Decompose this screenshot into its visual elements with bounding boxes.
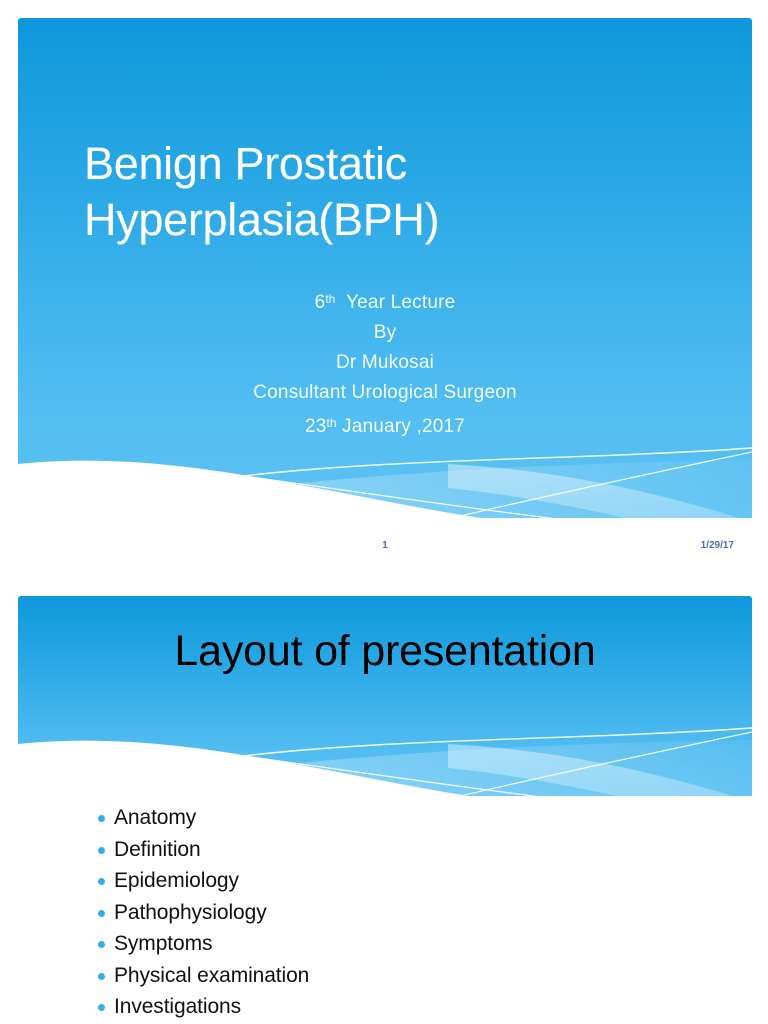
subtitle-line-by: By (18, 318, 752, 348)
slide-1-footer: 1 1/29/17 (18, 540, 752, 558)
slide-1-title: Benign Prostatic Hyperplasia(BPH) (84, 136, 704, 248)
lecture-year-number: 6 (315, 292, 326, 313)
list-item-label: Symptoms (114, 932, 212, 955)
bullet-dot-icon (98, 910, 105, 917)
subtitle-line-lecture: 6th Year Lecture (18, 284, 752, 318)
bullet-dot-icon (98, 1004, 105, 1011)
subtitle-line-presenter: Dr Mukosai (18, 348, 752, 378)
list-item: Investigations (78, 991, 718, 1023)
bullet-dot-icon (98, 973, 105, 980)
slide-2-title: Layout of presentation (18, 624, 752, 678)
list-item-label: Definition (114, 838, 201, 861)
slide-2[interactable]: Layout of presentation Anatomy Definitio… (18, 596, 752, 1024)
slide-date: 1/29/17 (701, 540, 734, 551)
bullet-dot-icon (98, 847, 105, 854)
list-item: Epidemiology (78, 865, 718, 897)
slide-1-banner (18, 18, 752, 518)
bullet-dot-icon (98, 878, 105, 885)
slide-number: 1 (18, 540, 752, 551)
list-item-label: Pathophysiology (114, 901, 267, 924)
date-rest: January ,2017 (337, 416, 466, 437)
list-item-label: Epidemiology (114, 869, 239, 892)
list-item-label: Anatomy (114, 806, 196, 829)
slide-1-title-line-2: Hyperplasia(BPH) (84, 192, 704, 248)
list-item: Pathophysiology (78, 897, 718, 929)
slide-1-subtitle: 6th Year Lecture By Dr Mukosai Consultan… (18, 284, 752, 442)
subtitle-line-date: 23th January ,2017 (18, 408, 752, 442)
date-day-number: 23 (305, 416, 327, 437)
date-day-ordinal: th (327, 416, 337, 430)
lecture-year-rest: Year Lecture (335, 292, 455, 313)
list-item: Definition (78, 834, 718, 866)
lecture-year-ordinal: th (325, 292, 335, 306)
list-item-label: Investigations (114, 995, 241, 1018)
list-item-label: Physical examination (114, 964, 309, 987)
subtitle-line-role: Consultant Urological Surgeon (18, 378, 752, 408)
bullet-dot-icon (98, 815, 105, 822)
slide-1[interactable]: Benign Prostatic Hyperplasia(BPH) 6th Ye… (18, 18, 752, 578)
slide-2-bullet-list: Anatomy Definition Epidemiology Pathophy… (78, 802, 718, 1023)
list-item: Physical examination (78, 960, 718, 992)
list-item: Symptoms (78, 928, 718, 960)
bullet-dot-icon (98, 941, 105, 948)
slide-1-title-line-1: Benign Prostatic (84, 136, 704, 192)
slides-page: Benign Prostatic Hyperplasia(BPH) 6th Ye… (0, 0, 768, 1024)
list-item: Anatomy (78, 802, 718, 834)
